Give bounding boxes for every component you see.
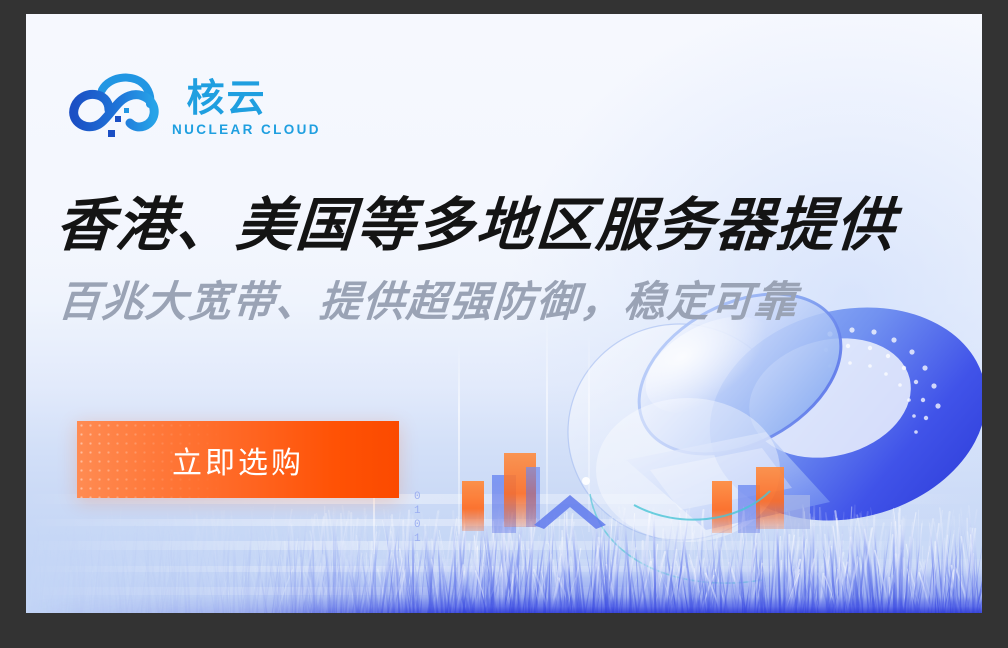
rack-blue-b [526, 467, 540, 527]
logo-chinese-name: 核云 [172, 77, 321, 121]
accent-arc-low [634, 491, 770, 520]
glass-wedge [626, 432, 830, 530]
roof-chevron [534, 495, 606, 529]
svg-text:0: 0 [414, 519, 421, 531]
horizon-band-2 [26, 519, 982, 526]
node-dot [582, 477, 590, 485]
infinity-cloud-icon [62, 68, 162, 142]
accent-arc [590, 494, 762, 583]
rack-orange-d [756, 467, 784, 529]
ground-shadow-line [26, 597, 982, 613]
promo-banner: 01 01 [26, 14, 982, 613]
hero-subheadline: 百兆大宽带、提供超强防御，稳定可靠 [56, 278, 799, 328]
screenshot-frame: 01 01 [0, 0, 1008, 648]
ghost-ring [568, 324, 792, 540]
logo-text-block: 核云 NUCLEAR CLOUD [172, 73, 321, 137]
svg-text:1: 1 [414, 505, 421, 517]
glass-wedge-highlight [650, 448, 792, 510]
light-streak-3 [546, 314, 548, 544]
light-streak-4 [588, 332, 590, 532]
horizon-band-5 [26, 587, 982, 595]
svg-text:0: 0 [414, 491, 421, 503]
rack-blue-a [492, 475, 516, 533]
light-streak-2 [458, 344, 460, 534]
logo-cn-text: 核云 [186, 78, 266, 120]
rack-orange-a [462, 481, 484, 531]
horizon-band-3 [26, 541, 982, 550]
binary-glyphs: 01 01 [414, 491, 421, 545]
buy-now-label: 立即选购 [172, 438, 304, 482]
rack-blue-c [738, 485, 760, 533]
buy-now-button[interactable]: 立即选购 [77, 421, 399, 498]
rack-orange-b [504, 453, 536, 527]
hero-headline: 香港、美国等多地区服务器提供 [54, 192, 899, 260]
horizon-band-4 [26, 566, 982, 572]
rack-orange-c [712, 481, 732, 533]
glass-disc-lower [596, 398, 780, 542]
rack-grey-a [784, 495, 810, 529]
svg-text:1: 1 [414, 533, 421, 545]
site-logo[interactable]: 核云 NUCLEAR CLOUD [62, 59, 312, 151]
logo-english-name: NUCLEAR CLOUD [172, 123, 321, 137]
